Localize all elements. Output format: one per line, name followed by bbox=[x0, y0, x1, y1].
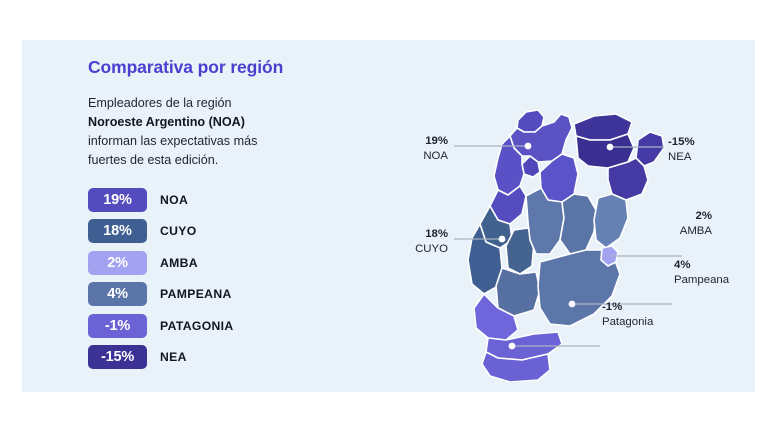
legend-item-cuyo[interactable]: 18% CUYO bbox=[88, 216, 378, 248]
content-panel: Comparativa por región Empleadores de la… bbox=[22, 40, 755, 392]
legend-item-nea[interactable]: -15% NEA bbox=[88, 342, 378, 374]
callout-value: 19% bbox=[400, 134, 448, 149]
legend-item-label: PAMPEANA bbox=[160, 287, 232, 301]
status-badge: -1% bbox=[88, 314, 147, 338]
callout-label: Patagonia bbox=[602, 315, 653, 330]
callout-value: 4% bbox=[674, 258, 729, 273]
callout-label: CUYO bbox=[396, 242, 448, 257]
map-callout-cuyo: 18% CUYO bbox=[396, 227, 448, 256]
legend-item-label: NEA bbox=[160, 350, 187, 364]
slide-canvas: Comparativa por región Empleadores de la… bbox=[0, 0, 768, 432]
left-column: Comparativa por región Empleadores de la… bbox=[88, 57, 378, 373]
callout-label: AMBA bbox=[638, 224, 712, 239]
province-entre-rios bbox=[594, 194, 628, 248]
callout-value: -15% bbox=[668, 135, 695, 150]
legend-item-patagonia[interactable]: -1% PATAGONIA bbox=[88, 310, 378, 342]
callout-label: Pampeana bbox=[674, 273, 729, 288]
legend-item-amba[interactable]: 2% AMBA bbox=[88, 247, 378, 279]
leader-dot-patagonia bbox=[509, 343, 516, 350]
callout-label: NOA bbox=[400, 149, 448, 164]
region-legend: 19% NOA 18% CUYO 2% AMBA 4% PAMPEANA -1% bbox=[88, 184, 378, 373]
callout-value: 2% bbox=[638, 209, 712, 224]
map-callout-pampeana: 4% Pampeana bbox=[674, 258, 729, 287]
page-title: Comparativa por región bbox=[88, 57, 378, 78]
map-callout-nea: -15% NEA bbox=[668, 135, 695, 164]
description-line-3: fuertes de esta edición. bbox=[88, 153, 218, 167]
description-line-1: Empleadores de la región bbox=[88, 96, 232, 110]
callout-value: -1% bbox=[602, 300, 653, 315]
province-misiones bbox=[636, 132, 664, 166]
legend-item-label: NOA bbox=[160, 193, 188, 207]
province-la-pampa bbox=[496, 268, 540, 316]
status-badge: 19% bbox=[88, 188, 147, 212]
legend-item-noa[interactable]: 19% NOA bbox=[88, 184, 378, 216]
status-badge: -15% bbox=[88, 345, 147, 369]
status-badge: 18% bbox=[88, 219, 147, 243]
leader-dot-noa bbox=[525, 143, 532, 150]
leader-dot-pampeana bbox=[569, 301, 576, 308]
legend-item-pampeana[interactable]: 4% PAMPEANA bbox=[88, 279, 378, 311]
legend-item-label: AMBA bbox=[160, 256, 198, 270]
map-callout-patagonia: -1% Patagonia bbox=[602, 300, 653, 329]
legend-item-label: PATAGONIA bbox=[160, 319, 234, 333]
status-badge: 2% bbox=[88, 251, 147, 275]
status-badge: 4% bbox=[88, 282, 147, 306]
leader-dot-nea bbox=[607, 144, 614, 151]
description-highlight: Noroeste Argentino (NOA) bbox=[88, 115, 245, 129]
province-santa-fe bbox=[560, 194, 596, 254]
panel-description: Empleadores de la región Noroeste Argent… bbox=[88, 94, 308, 170]
callout-value: 18% bbox=[396, 227, 448, 242]
map-callout-amba: 2% AMBA bbox=[638, 209, 712, 238]
argentina-choropleth-map: 19% NOA 18% CUYO -15% NEA 2% AMBA 4% Pam… bbox=[402, 62, 762, 382]
map-callout-noa: 19% NOA bbox=[400, 134, 448, 163]
description-line-2: informan las expectativas más bbox=[88, 134, 257, 148]
leader-dot-cuyo bbox=[499, 236, 506, 243]
legend-item-label: CUYO bbox=[160, 224, 197, 238]
callout-label: NEA bbox=[668, 150, 695, 165]
